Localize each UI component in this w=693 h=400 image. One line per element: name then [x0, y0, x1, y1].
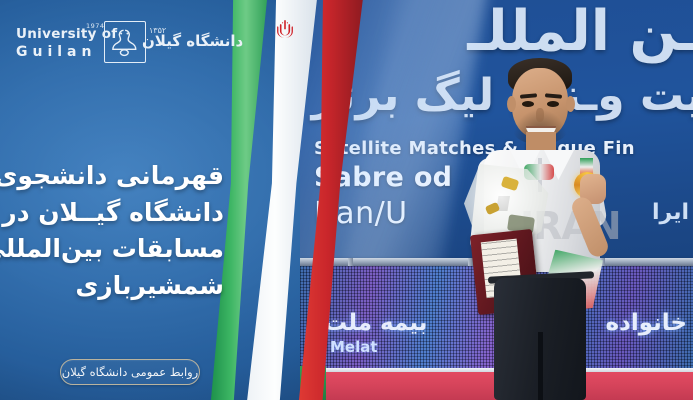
athlete-nose	[536, 108, 544, 122]
headline-line-2: دانشگاه گیــلان در	[8, 195, 224, 232]
headline-line-4: شمشیربازی	[8, 268, 224, 305]
university-logo-year-en: 1974	[86, 22, 105, 30]
athlete-eye-right	[547, 101, 559, 107]
university-logo[interactable]: University of Guilan 1974 ۱۳۵۲ دانشگاه گ…	[16, 20, 181, 66]
university-logo-line2: Guilan	[16, 44, 117, 60]
headline: قهرمانی دانشجوی دانشگاه گیــلان در مسابق…	[8, 158, 224, 304]
two-swans-emblem-icon	[104, 21, 146, 63]
public-relations-badge[interactable]: روابط عمومی دانشگاه گیلان	[60, 359, 200, 385]
athlete-figure: IRAN	[468, 46, 618, 400]
headline-line-3: مسابقات بین‌المللی	[8, 231, 224, 268]
event-banner-fa-right: ایرا	[652, 200, 689, 225]
university-logo-name-fa: دانشگاه گیلان	[142, 32, 243, 50]
athlete-eye-left	[522, 101, 534, 107]
headline-line-1: قهرمانی دانشجوی	[8, 158, 224, 195]
news-banner-graphic: ـن المللـ یت وـنال لیگ برتر Satellite Ma…	[0, 0, 693, 400]
public-relations-badge-label: روابط عمومی دانشگاه گیلان	[62, 365, 199, 379]
university-logo-words: University of Guilan	[16, 26, 117, 60]
athlete-pants-gap	[538, 332, 543, 400]
iran-emblem-icon	[273, 18, 297, 44]
